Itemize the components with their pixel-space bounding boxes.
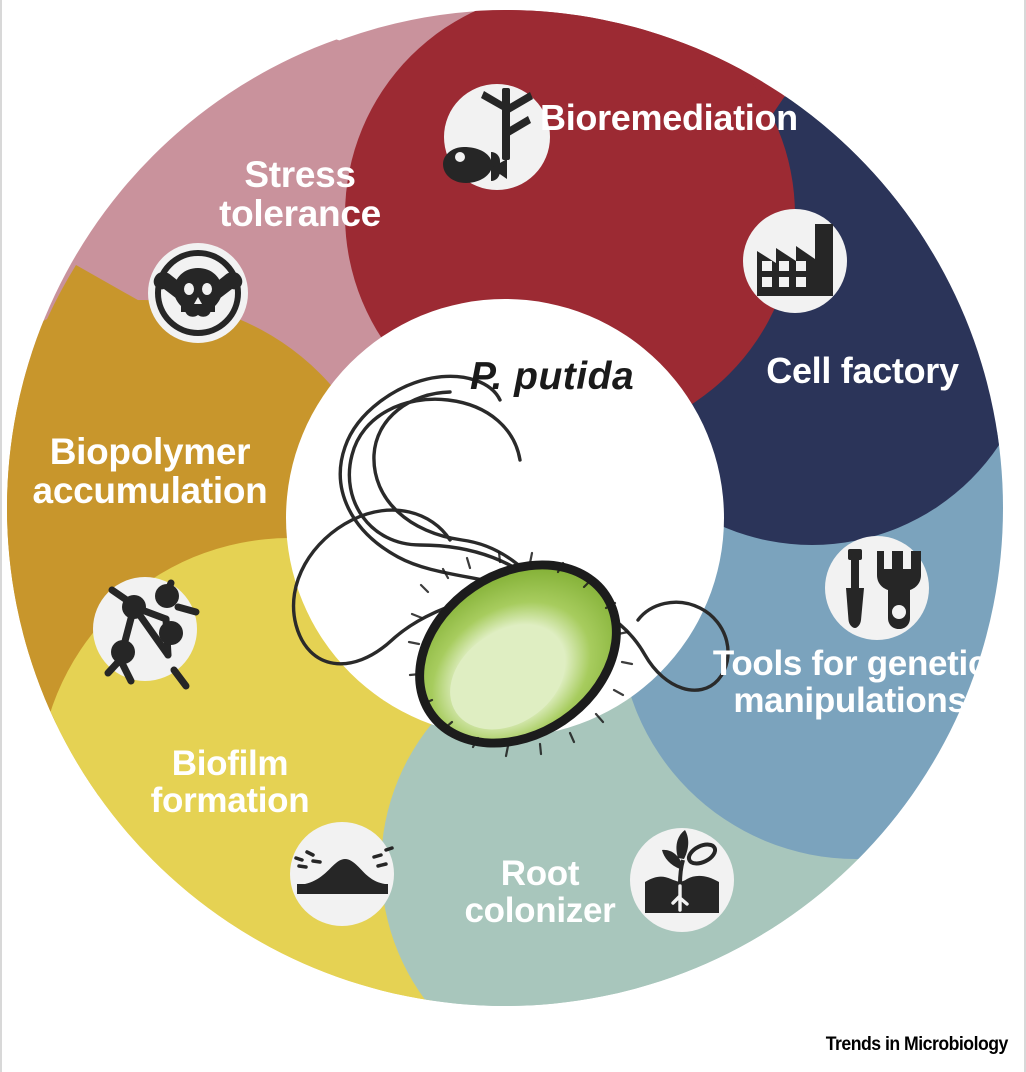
species-name-label: P. putida (470, 355, 670, 399)
root-colonizer-icon-badge[interactable] (630, 828, 734, 932)
biofilm-icon-badge[interactable] (290, 822, 394, 926)
tools-icon-badge[interactable] (825, 536, 929, 640)
cell-factory-icon-badge[interactable] (743, 209, 847, 313)
figure-canvas: Bioremediation Cell factory Tools for ge… (0, 0, 1026, 1072)
circular-wheel-diagram (0, 0, 1026, 1072)
stress-tolerance-icon-badge[interactable] (148, 243, 248, 343)
journal-credit: Trends in Microbiology (826, 1034, 1008, 1056)
